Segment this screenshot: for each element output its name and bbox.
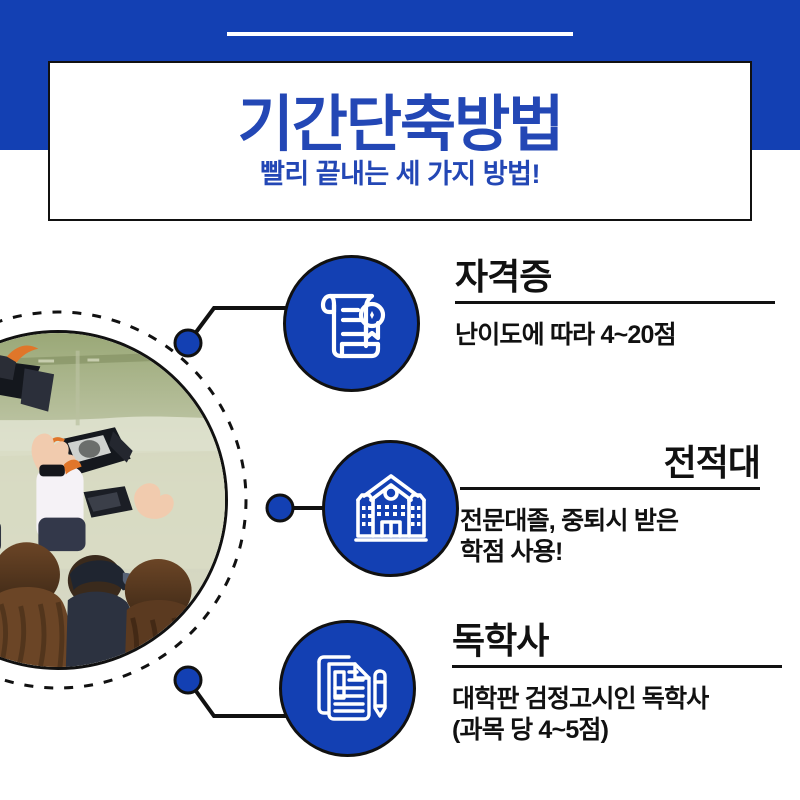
- item-2-underline: [460, 487, 760, 490]
- page-subtitle: 빨리 끝내는 세 가지 방법!: [260, 161, 540, 188]
- item-2-body: 전문대졸, 중퇴시 받은 학점 사용!: [460, 506, 760, 569]
- item-1-underline: [455, 301, 775, 304]
- item-1-text: 자격증 난이도에 따라 4~20점: [455, 258, 775, 351]
- item-3-body: 대학판 검정고시인 독학사 (과목 당 4~5점): [452, 684, 782, 747]
- exam-papers-pencil-icon-circle[interactable]: [279, 620, 416, 757]
- item-3-text: 독학사 대학판 검정고시인 독학사 (과목 당 4~5점): [452, 622, 782, 746]
- item-3-heading: 독학사: [452, 622, 782, 660]
- item-3-underline: [452, 665, 782, 668]
- university-building-icon-circle[interactable]: [322, 440, 459, 577]
- infographic-root: 기간단축방법 빨리 끝내는 세 가지 방법!: [0, 0, 800, 800]
- exam-papers-pencil-icon: [305, 646, 391, 732]
- certificate-scroll-icon-circle[interactable]: [283, 255, 420, 392]
- header-rule-divider: [227, 32, 573, 36]
- item-2-heading: 전적대: [460, 444, 760, 482]
- university-building-icon: [348, 466, 434, 552]
- page-title: 기간단축방법: [238, 94, 563, 155]
- graduation-photo: [0, 330, 228, 670]
- certificate-scroll-icon: [310, 282, 394, 366]
- item-2-text: 전적대 전문대졸, 중퇴시 받은 학점 사용!: [460, 444, 760, 568]
- item-1-body: 난이도에 따라 4~20점: [455, 320, 775, 351]
- title-box: 기간단축방법 빨리 끝내는 세 가지 방법!: [48, 61, 752, 221]
- item-1-heading: 자격증: [455, 258, 775, 296]
